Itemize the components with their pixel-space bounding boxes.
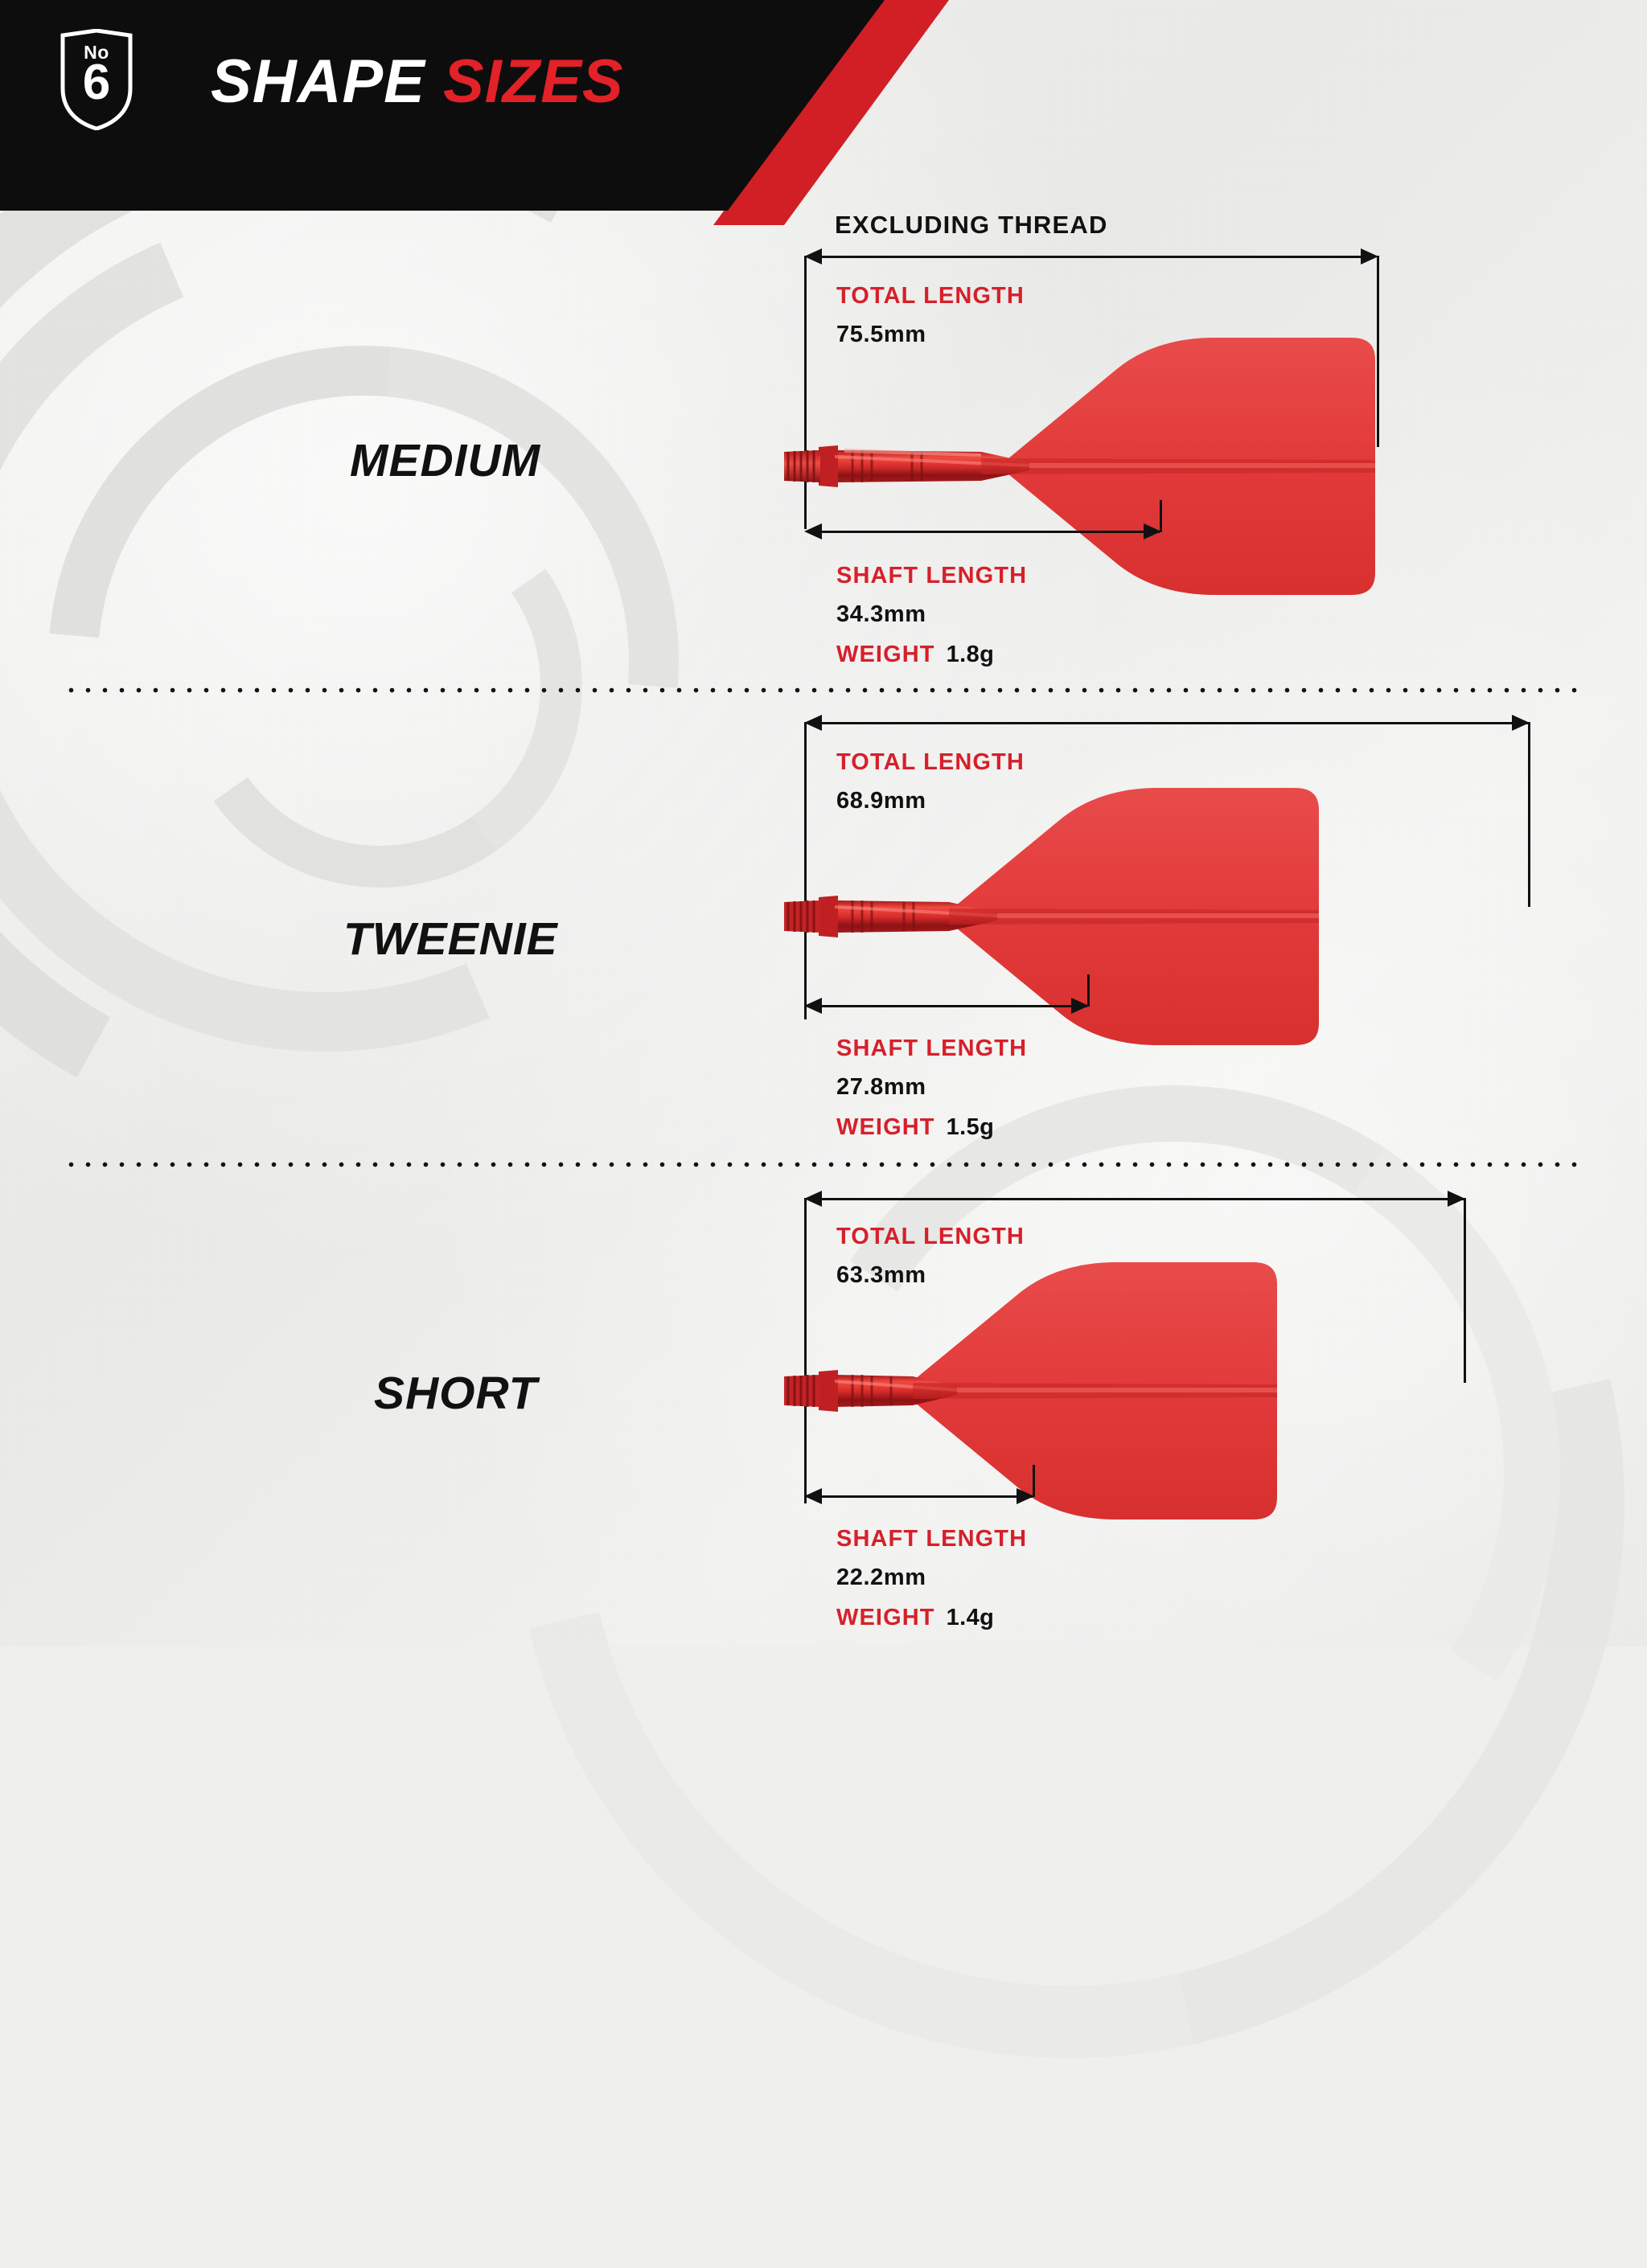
shaft-length-label: SHAFT LENGTH xyxy=(836,1036,1027,1062)
weight-row: WEIGHT1.5g xyxy=(836,1114,994,1141)
page-title-accent: SIZES xyxy=(443,47,624,116)
dimension-tick xyxy=(1087,974,1090,1007)
arrow-left-icon xyxy=(804,715,822,731)
shaft-length-label: SHAFT LENGTH xyxy=(836,1526,1027,1552)
excluding-thread-note: EXCLUDING THREAD xyxy=(835,211,1108,240)
arrow-right-icon xyxy=(1017,1488,1034,1504)
arrow-left-icon xyxy=(804,998,822,1014)
badge-number: 6 xyxy=(58,58,135,108)
dart-illustration-short xyxy=(740,1222,1552,1560)
weight-row: WEIGHT1.8g xyxy=(836,642,994,668)
shield-icon: No 6 xyxy=(58,29,135,130)
total-length-dimension-line xyxy=(822,1198,1465,1200)
arrow-left-icon xyxy=(804,523,822,539)
weight-label: WEIGHT xyxy=(836,1605,935,1630)
row-divider xyxy=(63,687,1583,693)
row-label-tweenie: TWEENIE xyxy=(343,913,558,966)
arrow-right-icon xyxy=(1512,715,1530,731)
shaft-length-value: 22.2mm xyxy=(836,1565,926,1591)
shaft-length-dimension-line xyxy=(822,531,1160,533)
weight-value: 1.8g xyxy=(947,642,995,667)
shaft-length-value: 34.3mm xyxy=(836,601,926,628)
row-label-short: SHORT xyxy=(374,1367,537,1420)
arrow-right-icon xyxy=(1144,523,1161,539)
page-title-main: SHAPE xyxy=(211,47,425,116)
weight-label: WEIGHT xyxy=(836,1114,935,1140)
row-label-medium: MEDIUM xyxy=(350,434,540,487)
weight-label: WEIGHT xyxy=(836,642,935,667)
page-title: SHAPE SIZES xyxy=(211,47,624,117)
dimension-tick xyxy=(1033,1465,1035,1497)
total-length-dimension-line xyxy=(822,256,1366,258)
shaft-length-label: SHAFT LENGTH xyxy=(836,563,1027,589)
shaft-length-value: 27.8mm xyxy=(836,1074,926,1101)
total-length-dimension-line xyxy=(822,722,1530,724)
weight-value: 1.5g xyxy=(947,1114,995,1140)
arrow-left-icon xyxy=(804,1191,822,1207)
arrow-left-icon xyxy=(804,1488,822,1504)
shaft-length-dimension-line xyxy=(822,1495,1033,1498)
arrow-right-icon xyxy=(1071,998,1089,1014)
arrow-right-icon xyxy=(1448,1191,1465,1207)
shaft-length-dimension-line xyxy=(822,1005,1087,1007)
arrow-left-icon xyxy=(804,248,822,265)
arrow-right-icon xyxy=(1361,248,1378,265)
dimension-tick xyxy=(1160,500,1162,532)
row-divider xyxy=(63,1162,1583,1167)
dart-illustration-tweenie xyxy=(740,748,1552,1085)
weight-value: 1.4g xyxy=(947,1605,995,1630)
weight-row: WEIGHT1.4g xyxy=(836,1605,994,1631)
